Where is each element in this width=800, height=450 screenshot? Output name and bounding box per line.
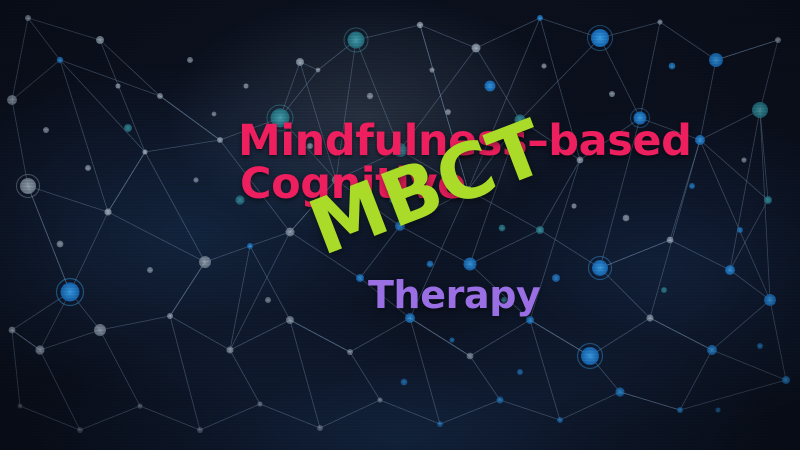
title-line-therapy: Therapy	[368, 276, 540, 314]
title-card: Mindfulness–based Cognitive MBCT Therapy	[0, 0, 800, 450]
